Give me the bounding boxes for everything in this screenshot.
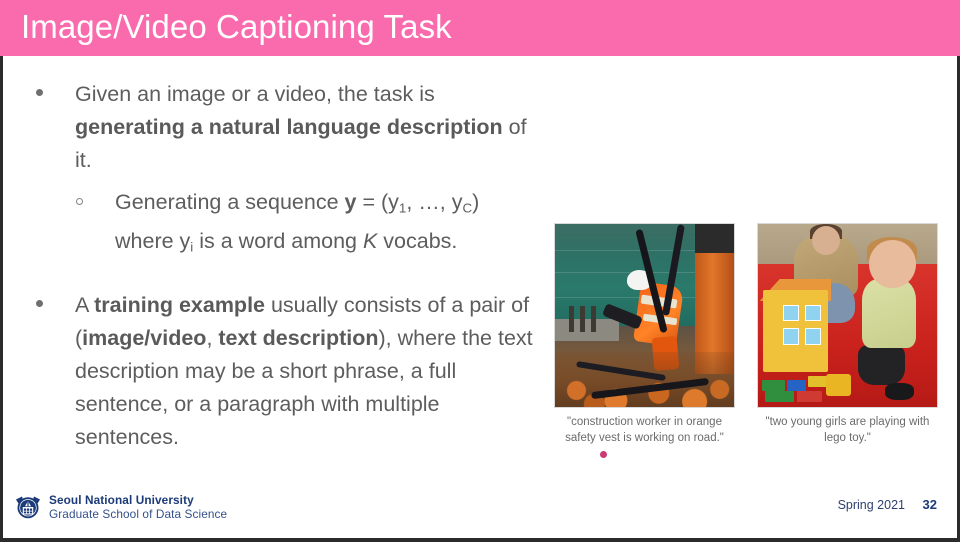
bullet-item-3: A training example usually consists of a…: [28, 289, 536, 454]
lego-window: [783, 305, 799, 321]
lego-truck: [826, 374, 851, 396]
seq-tail-mid: is a word among: [193, 229, 363, 253]
lego-window: [805, 305, 821, 321]
lego-brick: [787, 380, 807, 391]
slide-footer: Seoul National University Graduate Schoo…: [3, 486, 957, 538]
ground-post: [569, 306, 574, 332]
child-leggings: [858, 345, 905, 385]
bullet-spacer: [28, 263, 536, 289]
slide: Image/Video Captioning Task Given an ima…: [0, 0, 960, 542]
child-head: [869, 240, 916, 288]
seq-vector: y: [345, 190, 357, 214]
seq-tail-var: K: [363, 229, 377, 253]
seq-lead: Generating a sequence: [115, 190, 345, 214]
page-number: 32: [923, 497, 937, 512]
seq-equals: = (y: [356, 190, 398, 214]
lego-brick: [765, 391, 794, 402]
seq-tail-end: vocabs.: [377, 229, 457, 253]
snu-logo-icon: [13, 492, 43, 522]
bullet-item-1-text: Given an image or a video, the task is g…: [75, 78, 536, 177]
footer-university-name: Seoul National University: [49, 493, 194, 507]
seq-middle: , …, y: [406, 190, 462, 214]
ground-post: [591, 306, 596, 332]
ground-post: [580, 306, 585, 332]
figure-caption: "two young girls are playing with lego t…: [757, 415, 938, 446]
bullet-3-seg-f: text description: [218, 326, 378, 350]
child-sweater: [862, 279, 916, 349]
construction-worker-photo: [554, 223, 735, 408]
bullet-item-2-text: Generating a sequence y = (y1, …, yC) wh…: [75, 186, 536, 263]
bullet-disc-icon: [36, 300, 43, 307]
bullet-item-1: Given an image or a video, the task is g…: [28, 78, 536, 177]
bullet-1-seg-a: Given an image or a video, the task is: [75, 82, 435, 106]
bullet-circle-icon: [76, 198, 83, 205]
machine-top: [695, 224, 734, 253]
bullet-disc-icon: [36, 89, 43, 96]
bullet-item-2: Generating a sequence y = (y1, …, yC) wh…: [28, 186, 536, 263]
cursor-marker-dot: [600, 451, 607, 458]
lego-brick: [762, 380, 785, 391]
seq-sub-last: C: [462, 201, 472, 216]
title-banner: Image/Video Captioning Task: [0, 0, 960, 56]
child-shoe: [885, 383, 914, 399]
footer-school-name: Graduate School of Data Science: [49, 507, 227, 521]
lego-brick: [797, 391, 822, 402]
bullet-3-seg-e: ,: [206, 326, 218, 350]
figure-lego-play: "two young girls are playing with lego t…: [757, 223, 938, 446]
bullet-list: Given an image or a video, the task is g…: [28, 78, 536, 454]
bullet-3-seg-d: image/video: [82, 326, 206, 350]
seq-close: ): [472, 190, 479, 214]
bullet-item-3-text: A training example usually consists of a…: [75, 289, 536, 454]
seq-tail-lead: where y: [115, 229, 190, 253]
slide-body: Given an image or a video, the task is g…: [3, 56, 957, 486]
bullet-1-seg-b: generating a natural language descriptio…: [75, 115, 503, 139]
footer-term: Spring 2021: [838, 498, 905, 512]
bullet-3-seg-a: A: [75, 293, 94, 317]
figure-construction-worker: "construction worker in orange safety ve…: [554, 223, 735, 446]
page-title: Image/Video Captioning Task: [21, 7, 452, 47]
lego-window: [783, 328, 799, 344]
concrete-wall: [555, 319, 619, 341]
lego-play-photo: [757, 223, 938, 408]
lego-window: [805, 328, 821, 344]
figure-caption: "construction worker in orange safety ve…: [554, 415, 735, 446]
bullet-3-seg-b: training example: [94, 293, 265, 317]
